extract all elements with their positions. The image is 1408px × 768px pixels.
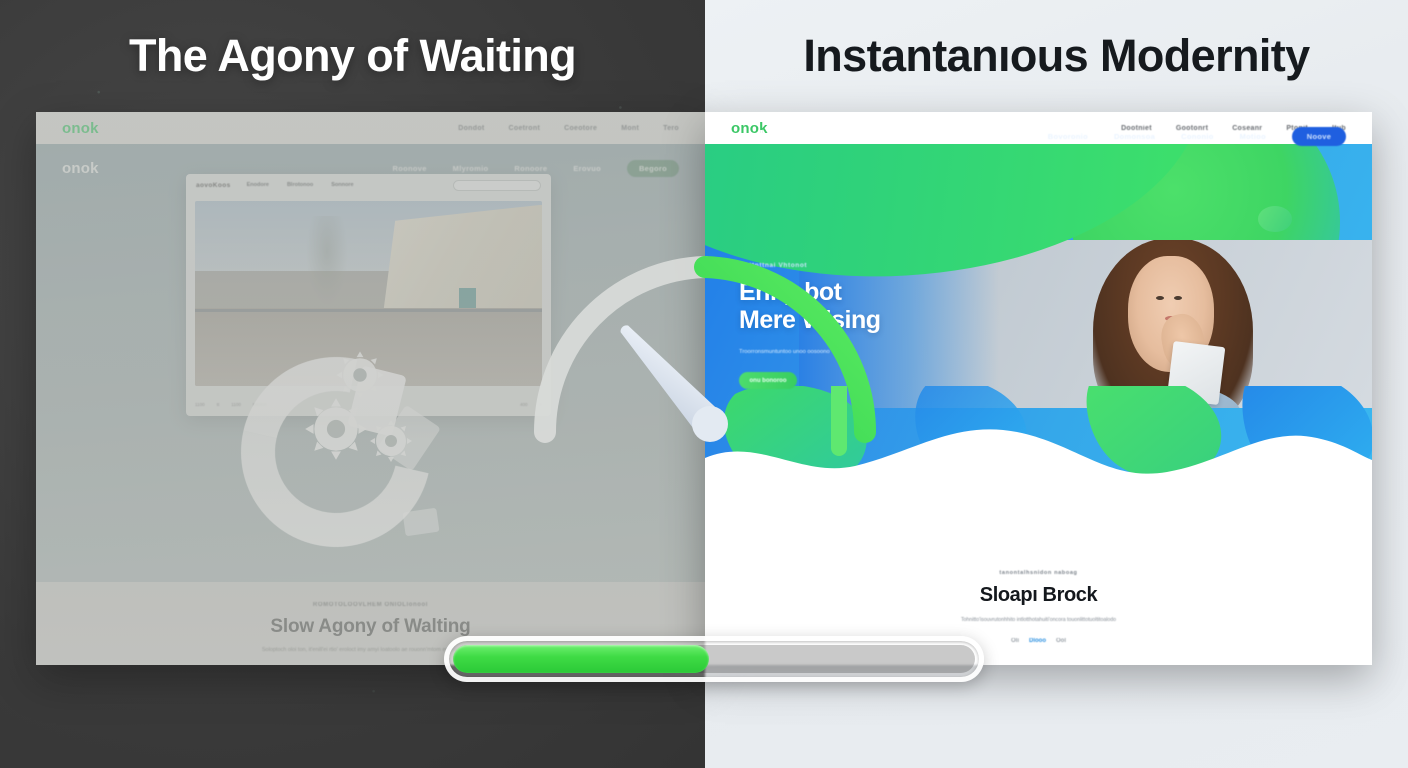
right-nav-items: Bovoronio Domonsoa Cononio Motioo Noove	[1048, 127, 1346, 146]
page-load-progress-bar[interactable]	[444, 636, 984, 682]
right-nav-item-2[interactable]: Cononio	[1181, 132, 1214, 141]
hero-headline-line-1: Enity bot	[739, 278, 969, 306]
left-nav-item-3[interactable]: Erovuo	[573, 164, 601, 173]
left-mock-search-input[interactable]	[453, 180, 541, 191]
hero-headline: Enity bot Mere Wising	[739, 278, 969, 334]
left-topnav-item-0[interactable]: Dondot	[458, 125, 484, 132]
spinner-fragment-3	[402, 508, 439, 536]
right-nav-button[interactable]: Noove	[1292, 127, 1346, 146]
left-section-eyebrow: ROMOTOLOOVLHEM ONIOLlonool	[36, 602, 705, 608]
hero-wave-decoration	[705, 386, 1372, 506]
right-section-eyebrow: tanontalhsnidon naboag	[705, 570, 1372, 576]
gear-icon	[366, 416, 416, 466]
tree-shape	[306, 216, 348, 305]
comparison-stage: onok Dondot Coetront Coeotore Mont Tero …	[0, 0, 1408, 768]
left-nav-button[interactable]: Begoro	[627, 160, 679, 177]
left-nav-item-0[interactable]: Roonove	[392, 164, 426, 173]
right-nav-item-3[interactable]: Motioo	[1240, 132, 1266, 141]
right-nav-logo[interactable]: onok	[731, 128, 768, 145]
left-mock-nav-0[interactable]: Enodore	[247, 182, 269, 188]
hero-cta-button[interactable]: onu bonoroo	[739, 372, 797, 389]
right-section-subtitle: Tohnitto'isouvrutonhhito intlotthotahuit…	[705, 616, 1372, 626]
right-nav-item-1[interactable]: Domonsoa	[1114, 132, 1155, 141]
right-hero-section: Gottnttnai Vhtonot Enity bot Mere Wising…	[705, 144, 1372, 506]
left-website-screenshot: onok Dondot Coetront Coeotore Mont Tero …	[36, 112, 705, 665]
left-topbar-nav: Dondot Coetront Coeotore Mont Tero	[458, 125, 679, 132]
left-topbar: onok Dondot Coetront Coeotore Mont Tero	[36, 112, 705, 144]
left-mock-meta-5: tt	[539, 402, 542, 407]
left-topnav-item-3[interactable]: Mont	[621, 125, 639, 132]
progress-track	[453, 645, 975, 673]
gear-icon	[301, 394, 371, 464]
hero-person-eye	[1174, 296, 1182, 300]
left-nav-item-2[interactable]: Ronoore	[514, 164, 547, 173]
left-mock-meta-2: 1100	[231, 402, 241, 407]
left-topnav-item-2[interactable]: Coeotore	[564, 125, 597, 132]
left-section-title: Slow Agony of Walting	[36, 616, 705, 638]
decorative-dot-green	[1258, 206, 1292, 232]
tab-1[interactable]: Dlooo	[1029, 638, 1046, 644]
left-mock-meta-4: 400	[520, 402, 528, 407]
left-mock-nav: Enodore Blrotonoo Sonnore	[247, 182, 354, 188]
right-section-title: Sloapı Brock	[705, 584, 1372, 607]
hero-subtitle: Troorronsmuntuntoo unoo oosoono	[739, 346, 969, 358]
left-mock-logo: aovoKoos	[196, 182, 231, 189]
left-mock-meta-1: tt	[217, 402, 220, 407]
left-topbar-logo[interactable]: onok	[62, 120, 99, 137]
curb-line	[195, 309, 542, 312]
progress-fill	[453, 645, 709, 673]
right-nav-item-0[interactable]: Bovoronio	[1048, 132, 1088, 141]
left-nav-item-1[interactable]: Mlyromio	[453, 164, 489, 173]
hero-eyebrow: Gottnttnai Vhtonot	[739, 262, 969, 269]
left-mock-browser-topbar: aovoKoos Enodore Blrotonoo Sonnore	[186, 174, 551, 196]
left-topnav-item-1[interactable]: Coetront	[509, 125, 541, 132]
hero-copy: Gottnttnai Vhtonot Enity bot Mere Wising…	[739, 262, 969, 389]
tab-0[interactable]: Oli	[1011, 638, 1019, 644]
left-mock-nav-1[interactable]: Blrotonoo	[287, 182, 313, 188]
tab-2[interactable]: Ool	[1056, 638, 1066, 644]
left-mock-meta-0: 1100	[195, 402, 205, 407]
hero-person-eye	[1156, 296, 1164, 300]
left-nav-logo[interactable]: onok	[62, 160, 99, 177]
right-website-screenshot: Gottnttnai Vhtonot Enity bot Mere Wising…	[705, 112, 1372, 665]
left-panel-title: The Agony of Waiting	[0, 30, 705, 82]
left-mock-nav-2[interactable]: Sonnore	[331, 182, 353, 188]
left-topnav-item-4[interactable]: Tero	[663, 125, 679, 132]
right-panel-title: Instantanıous Modernity	[705, 30, 1408, 82]
hero-headline-line-2: Mere Wising	[739, 306, 969, 334]
right-navbar: onok Bovoronio Domonsoa Cononio Motioo N…	[705, 112, 1372, 160]
